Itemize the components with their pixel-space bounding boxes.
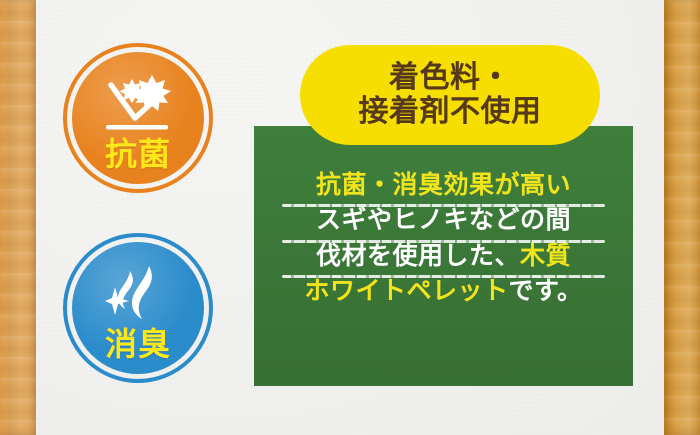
no-additives-banner: 着色料・ 接着剤不使用 (300, 45, 600, 145)
promo-poster: 抗菌・消臭効果が高い スギやヒノキなどの間 伐材を使用した、木質 ホワイトペレッ… (0, 0, 700, 435)
banner-line-1: 着色料・ (389, 61, 511, 95)
badge-antibacterial: 抗菌 (63, 43, 213, 193)
info-panel-line-4: ホワイトペレットです。 (274, 278, 613, 310)
info-line-2-plain: スギやヒノキなどの間 (316, 205, 571, 234)
info-panel-line-1: 抗菌・消臭効果が高い (274, 172, 613, 204)
info-line-4-plain: です。 (509, 276, 583, 305)
wood-frame-left (0, 0, 36, 435)
badge-antibacterial-label: 抗菌 (105, 138, 171, 170)
wood-frame-right (664, 0, 700, 435)
odor-vapor-icon (102, 263, 174, 325)
badge-deodorant-label: 消臭 (105, 328, 171, 360)
info-line-3-plain: 伐材を使用した、 (316, 241, 520, 270)
info-panel-line-3: 伐材を使用した、木質 (274, 243, 613, 275)
germ-deflect-icon (102, 73, 174, 135)
info-line-1-highlight: 抗菌・消臭効果が高い (316, 170, 571, 199)
info-panel-divider-1 (282, 204, 605, 207)
info-panel: 抗菌・消臭効果が高い スギやヒノキなどの間 伐材を使用した、木質 ホワイトペレッ… (254, 126, 633, 386)
info-panel-line-2: スギやヒノキなどの間 (274, 207, 613, 239)
info-panel-divider-3 (282, 275, 605, 278)
info-line-4-highlight: ホワイトペレット (304, 276, 508, 305)
info-line-3-highlight: 木質 (520, 241, 571, 270)
banner-line-2: 接着剤不使用 (359, 95, 542, 129)
info-panel-divider-2 (282, 240, 605, 243)
badge-deodorant: 消臭 (63, 233, 213, 383)
